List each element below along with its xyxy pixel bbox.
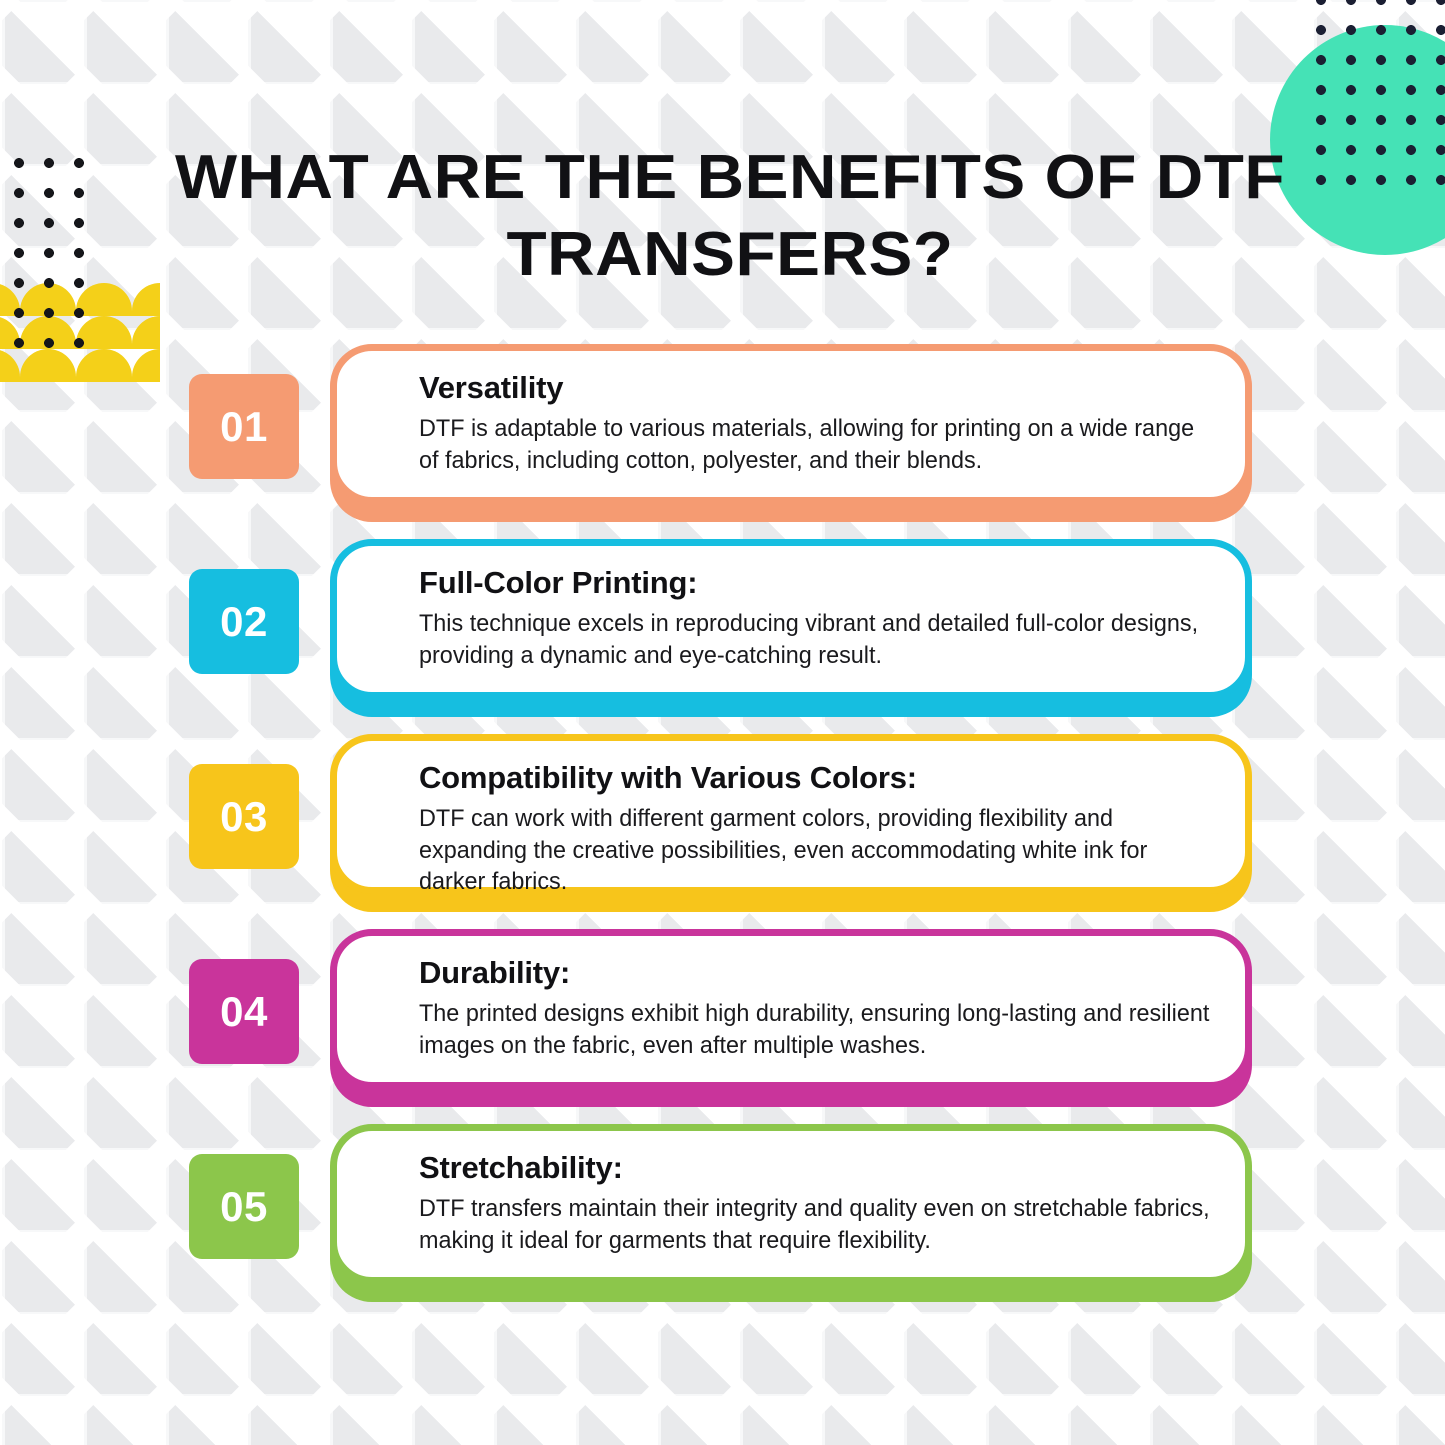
- card-heading: Stretchability:: [419, 1151, 1211, 1186]
- card-number-badge: 05: [189, 1154, 299, 1259]
- benefit-card[interactable]: Compatibility with Various Colors:DTF ca…: [0, 723, 1445, 918]
- benefit-card[interactable]: Durability:The printed designs exhibit h…: [0, 918, 1445, 1113]
- card-number-badge: 04: [189, 959, 299, 1064]
- card-description: The printed designs exhibit high durabil…: [419, 998, 1211, 1062]
- card-body[interactable]: VersatilityDTF is adaptable to various m…: [330, 344, 1252, 504]
- card-description: DTF transfers maintain their integrity a…: [419, 1193, 1211, 1257]
- card-number-label: 04: [220, 988, 268, 1036]
- card-heading: Durability:: [419, 956, 1211, 991]
- card-description: This technique excels in reproducing vib…: [419, 608, 1211, 672]
- card-number-badge: 03: [189, 764, 299, 869]
- card-number-badge: 01: [189, 374, 299, 479]
- benefits-list: VersatilityDTF is adaptable to various m…: [0, 333, 1445, 1308]
- card-number-label: 03: [220, 793, 268, 841]
- infographic-canvas: WHAT ARE THE BENEFITS OF DTF TRANSFERS? …: [0, 0, 1445, 1445]
- card-body[interactable]: Stretchability:DTF transfers maintain th…: [330, 1124, 1252, 1284]
- card-description: DTF is adaptable to various materials, a…: [419, 413, 1211, 477]
- card-body[interactable]: Durability:The printed designs exhibit h…: [330, 929, 1252, 1089]
- dot-grid-top-right-icon: [1315, 0, 1445, 194]
- benefit-card[interactable]: Stretchability:DTF transfers maintain th…: [0, 1113, 1445, 1308]
- card-number-label: 05: [220, 1183, 268, 1231]
- card-heading: Full-Color Printing:: [419, 566, 1211, 601]
- page-title: WHAT ARE THE BENEFITS OF DTF TRANSFERS?: [126, 140, 1334, 294]
- card-heading: Compatibility with Various Colors:: [419, 761, 1211, 796]
- card-body[interactable]: Compatibility with Various Colors:DTF ca…: [330, 734, 1252, 894]
- card-description: DTF can work with different garment colo…: [419, 803, 1211, 899]
- benefit-card[interactable]: VersatilityDTF is adaptable to various m…: [0, 333, 1445, 528]
- card-number-badge: 02: [189, 569, 299, 674]
- card-number-label: 02: [220, 598, 268, 646]
- card-number-label: 01: [220, 403, 268, 451]
- card-heading: Versatility: [419, 371, 1211, 406]
- benefit-card[interactable]: Full-Color Printing:This technique excel…: [0, 528, 1445, 723]
- card-body[interactable]: Full-Color Printing:This technique excel…: [330, 539, 1252, 699]
